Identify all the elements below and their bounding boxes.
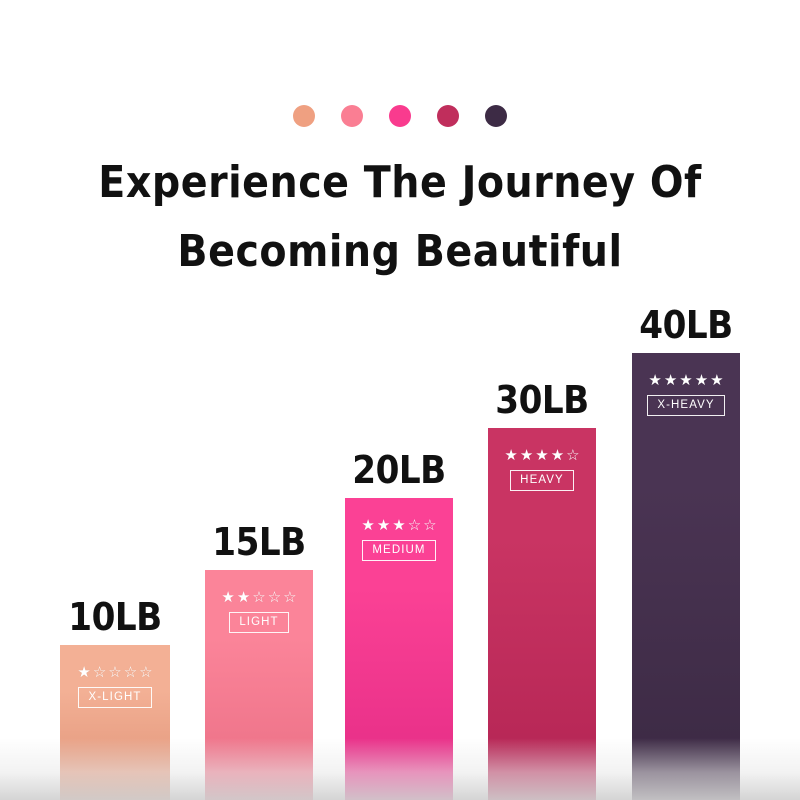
star-filled-icon: ★: [551, 448, 564, 463]
star-empty-icon: ☆: [268, 590, 281, 605]
bar-20lb-level-label: MEDIUM: [362, 540, 435, 561]
star-filled-icon: ★: [361, 518, 374, 533]
bar-30lb-weight-label: 30LB: [495, 378, 588, 422]
infographic-canvas: Experience The Journey Of Becoming Beaut…: [0, 0, 800, 800]
page-title-line-1: Experience The Journey Of: [0, 148, 800, 217]
bar-15lb[interactable]: 15LB★★☆☆☆LIGHT: [205, 570, 313, 800]
bar-40lb[interactable]: 40LB★★★★★X-HEAVY: [632, 353, 740, 800]
star-filled-icon: ★: [392, 518, 405, 533]
bar-40lb-badge: ★★★★★X-HEAVY: [632, 373, 740, 416]
star-filled-icon: ★: [377, 518, 390, 533]
dot-heavy: [437, 105, 459, 127]
bar-30lb-star-rating: ★★★★☆: [504, 448, 579, 463]
star-filled-icon: ★: [664, 373, 677, 388]
star-empty-icon: ☆: [423, 518, 436, 533]
star-filled-icon: ★: [504, 448, 517, 463]
star-empty-icon: ☆: [283, 590, 296, 605]
bar-30lb-badge: ★★★★☆HEAVY: [488, 448, 596, 491]
dot-x-light: [293, 105, 315, 127]
star-empty-icon: ☆: [408, 518, 421, 533]
star-filled-icon: ★: [535, 448, 548, 463]
star-filled-icon: ★: [77, 665, 90, 680]
star-empty-icon: ☆: [93, 665, 106, 680]
bar-40lb-star-rating: ★★★★★: [648, 373, 723, 388]
bar-10lb-badge: ★☆☆☆☆X-LIGHT: [60, 665, 170, 708]
bar-15lb-star-rating: ★★☆☆☆: [221, 590, 296, 605]
bar-10lb-level-label: X-LIGHT: [78, 687, 151, 708]
star-filled-icon: ★: [679, 373, 692, 388]
star-empty-icon: ☆: [124, 665, 137, 680]
bar-30lb[interactable]: 30LB★★★★☆HEAVY: [488, 428, 596, 800]
star-filled-icon: ★: [648, 373, 661, 388]
bar-40lb-level-label: X-HEAVY: [647, 395, 724, 416]
bar-10lb[interactable]: 10LB★☆☆☆☆X-LIGHT: [60, 645, 170, 800]
page-title-line-2: Becoming Beautiful: [0, 217, 800, 286]
star-filled-icon: ★: [710, 373, 723, 388]
bar-15lb-level-label: LIGHT: [229, 612, 288, 633]
bar-40lb-weight-label: 40LB: [639, 303, 732, 347]
bar-15lb-weight-label: 15LB: [212, 520, 305, 564]
bar-40lb-fill: [632, 353, 740, 800]
star-filled-icon: ★: [237, 590, 250, 605]
bar-20lb-star-rating: ★★★☆☆: [361, 518, 436, 533]
bar-20lb-weight-label: 20LB: [352, 448, 445, 492]
dot-x-heavy: [485, 105, 507, 127]
star-filled-icon: ★: [695, 373, 708, 388]
bar-10lb-weight-label: 10LB: [68, 595, 161, 639]
dot-medium: [389, 105, 411, 127]
star-empty-icon: ☆: [108, 665, 121, 680]
bar-10lb-star-rating: ★☆☆☆☆: [77, 665, 152, 680]
color-swatch-row: [0, 105, 800, 127]
star-filled-icon: ★: [221, 590, 234, 605]
star-filled-icon: ★: [520, 448, 533, 463]
star-empty-icon: ☆: [252, 590, 265, 605]
bar-20lb-badge: ★★★☆☆MEDIUM: [345, 518, 453, 561]
page-title: Experience The Journey Of Becoming Beaut…: [0, 148, 800, 286]
dot-light: [341, 105, 363, 127]
star-empty-icon: ☆: [566, 448, 579, 463]
star-empty-icon: ☆: [139, 665, 152, 680]
bar-30lb-level-label: HEAVY: [510, 470, 574, 491]
bar-15lb-badge: ★★☆☆☆LIGHT: [205, 590, 313, 633]
bar-20lb[interactable]: 20LB★★★☆☆MEDIUM: [345, 498, 453, 800]
